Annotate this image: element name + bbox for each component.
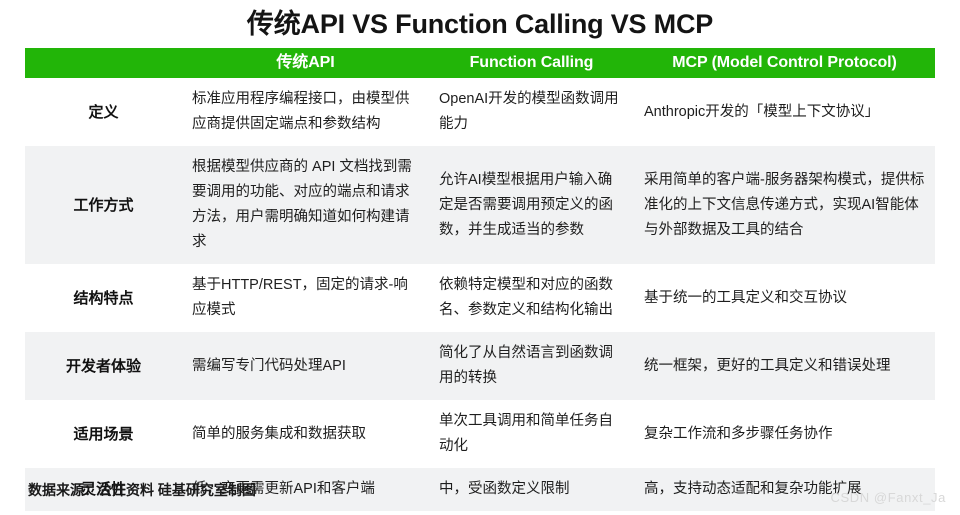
comparison-table: 传统API Function Calling MCP (Model Contro… [25, 48, 935, 511]
cell-developer-experience-traditional-api: 需编写专门代码处理API [182, 332, 429, 400]
table-row: 开发者体验 需编写专门代码处理API 简化了从自然语言到函数调用的转换 统一框架… [25, 332, 935, 400]
cell-developer-experience-mcp: 统一框架，更好的工具定义和错误处理 [634, 332, 935, 400]
cell-flexibility-function-calling: 中，受函数定义限制 [429, 468, 634, 511]
cell-working-method-traditional-api: 根据模型供应商的 API 文档找到需要调用的功能、对应的端点和请求方法，用户需明… [182, 146, 429, 264]
infographic-page: 传统API VS Function Calling VS MCP 传统API F… [0, 0, 960, 515]
table-header-row: 传统API Function Calling MCP (Model Contro… [25, 48, 935, 78]
cell-working-method-mcp: 采用简单的客户端-服务器架构模式，提供标准化的上下文信息传递方式，实现AI智能体… [634, 146, 935, 264]
cell-use-cases-traditional-api: 简单的服务集成和数据获取 [182, 400, 429, 468]
row-label-structure: 结构特点 [25, 264, 182, 332]
table-header-traditional-api: 传统API [182, 48, 429, 78]
csdn-watermark: CSDN @Fanxt_Ja [830, 490, 946, 505]
cell-definition-mcp: Anthropic开发的「模型上下文协议」 [634, 78, 935, 146]
cell-definition-function-calling: OpenAI开发的模型函数调用能力 [429, 78, 634, 146]
table-row: 适用场景 简单的服务集成和数据获取 单次工具调用和简单任务自动化 复杂工作流和多… [25, 400, 935, 468]
data-source-note: 数据来源：公开资料 硅基研究室制图 [28, 480, 256, 500]
page-title: 传统API VS Function Calling VS MCP [0, 0, 960, 42]
cell-structure-traditional-api: 基于HTTP/REST，固定的请求-响应模式 [182, 264, 429, 332]
table-row: 工作方式 根据模型供应商的 API 文档找到需要调用的功能、对应的端点和请求方法… [25, 146, 935, 264]
cell-use-cases-function-calling: 单次工具调用和简单任务自动化 [429, 400, 634, 468]
cell-working-method-function-calling: 允许AI模型根据用户输入确定是否需要调用预定义的函数，并生成适当的参数 [429, 146, 634, 264]
cell-structure-function-calling: 依赖特定模型和对应的函数名、参数定义和结构化输出 [429, 264, 634, 332]
comparison-table-container: 传统API Function Calling MCP (Model Contro… [25, 48, 935, 511]
cell-use-cases-mcp: 复杂工作流和多步骤任务协作 [634, 400, 935, 468]
table-header-blank [25, 48, 182, 78]
row-label-use-cases: 适用场景 [25, 400, 182, 468]
row-label-definition: 定义 [25, 78, 182, 146]
row-label-developer-experience: 开发者体验 [25, 332, 182, 400]
row-label-working-method: 工作方式 [25, 146, 182, 264]
table-row: 定义 标准应用程序编程接口，由模型供应商提供固定端点和参数结构 OpenAI开发… [25, 78, 935, 146]
cell-definition-traditional-api: 标准应用程序编程接口，由模型供应商提供固定端点和参数结构 [182, 78, 429, 146]
table-row: 结构特点 基于HTTP/REST，固定的请求-响应模式 依赖特定模型和对应的函数… [25, 264, 935, 332]
cell-developer-experience-function-calling: 简化了从自然语言到函数调用的转换 [429, 332, 634, 400]
table-header-function-calling: Function Calling [429, 48, 634, 78]
table-header-mcp: MCP (Model Control Protocol) [634, 48, 935, 78]
table-body: 定义 标准应用程序编程接口，由模型供应商提供固定端点和参数结构 OpenAI开发… [25, 78, 935, 511]
cell-structure-mcp: 基于统一的工具定义和交互协议 [634, 264, 935, 332]
table-header: 传统API Function Calling MCP (Model Contro… [25, 48, 935, 78]
